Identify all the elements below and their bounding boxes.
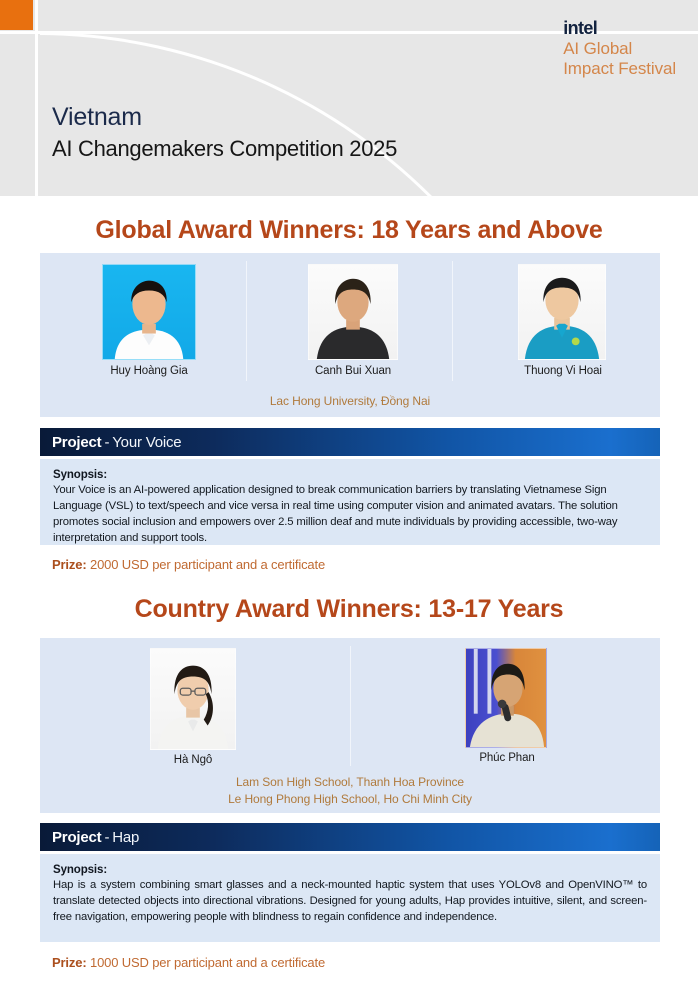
- portrait-illustration: [103, 265, 195, 359]
- winner-photo: [518, 264, 606, 360]
- portrait-illustration: [151, 649, 235, 749]
- project-bar-your-voice: Project - Your Voice: [40, 428, 660, 456]
- synopsis-text: Your Voice is an AI-powered application …: [53, 482, 647, 546]
- winner-school: Lac Hong University, Đồng Nai: [40, 393, 660, 410]
- project-name: Hap: [112, 829, 139, 846]
- winners-panel-country: Hà Ngô Phúc Phan Lam Son High School, Th…: [40, 638, 660, 813]
- poster-header: intel AI Global Impact Festival Vietnam …: [0, 0, 698, 196]
- logo-line-ai-global: AI Global: [563, 39, 676, 59]
- prize-label: Prize:: [52, 557, 87, 572]
- section-heading-country-award: Country Award Winners: 13-17 Years: [0, 595, 698, 624]
- prize-value: 1000 USD per participant and a certifica…: [90, 955, 325, 970]
- prize-label: Prize:: [52, 955, 87, 970]
- synopsis-text: Hap is a system combining smart glasses …: [53, 877, 647, 925]
- synopsis-label: Synopsis:: [53, 864, 647, 876]
- intel-wordmark: intel: [563, 18, 676, 39]
- synopsis-box-your-voice: Synopsis: Your Voice is an AI-powered ap…: [40, 459, 660, 545]
- portrait-illustration: [309, 265, 397, 359]
- winner-name: Canh Bui Xuan: [292, 365, 414, 377]
- winner-photo: [308, 264, 398, 360]
- panel-divider: [350, 646, 351, 766]
- section-heading-global-award: Global Award Winners: 18 Years and Above: [0, 216, 698, 245]
- winner-photo: [150, 648, 236, 750]
- project-label: Project: [52, 434, 101, 451]
- poster-page: intel AI Global Impact Festival Vietnam …: [0, 0, 698, 1008]
- prize-value: 2000 USD per participant and a certifica…: [90, 557, 325, 572]
- winner-school: Lam Son High School, Thanh Hoa Province: [40, 774, 660, 791]
- portrait-illustration: [519, 265, 605, 359]
- panel-divider: [246, 261, 247, 381]
- project-label: Project: [52, 829, 101, 846]
- header-vertical-rule: [35, 0, 38, 196]
- synopsis-label: Synopsis:: [53, 469, 647, 481]
- winners-panel-global: Huy Hoàng Gia Canh Bui Xuan: [40, 253, 660, 417]
- prize-line-global: Prize: 2000 USD per participant and a ce…: [52, 557, 325, 572]
- page-subtitle: AI Changemakers Competition 2025: [52, 135, 397, 164]
- project-bar-hap: Project - Hap: [40, 823, 660, 851]
- portrait-illustration: [466, 649, 546, 747]
- header-title-block: Vietnam AI Changemakers Competition 2025: [52, 102, 397, 164]
- panel-divider: [452, 261, 453, 381]
- prize-line-country: Prize: 1000 USD per participant and a ce…: [52, 955, 325, 970]
- winner-name: Huy Hoàng Gia: [88, 365, 210, 377]
- winner-name: Hà Ngô: [132, 754, 254, 766]
- winner-school: Le Hong Phong High School, Ho Chi Minh C…: [40, 791, 660, 808]
- winner-name: Thuong Vi Hoai: [502, 365, 624, 377]
- winner-photo: [465, 648, 547, 748]
- intel-ai-global-impact-festival-logo: intel AI Global Impact Festival: [563, 18, 676, 78]
- winner-photo: [102, 264, 196, 360]
- page-title-country: Vietnam: [52, 102, 397, 133]
- project-separator: -: [104, 829, 109, 846]
- synopsis-box-hap: Synopsis: Hap is a system combining smar…: [40, 854, 660, 942]
- project-name: Your Voice: [112, 434, 181, 451]
- project-separator: -: [104, 434, 109, 451]
- winner-name: Phúc Phan: [446, 752, 568, 764]
- orange-accent-block: [0, 0, 33, 30]
- logo-line-impact-festival: Impact Festival: [563, 59, 676, 79]
